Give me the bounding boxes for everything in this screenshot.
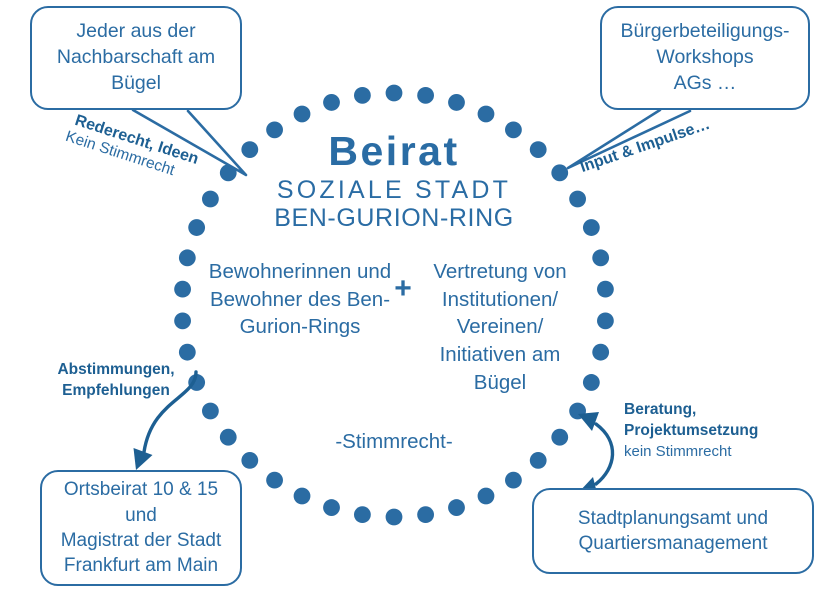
bubble-neighborhood-line-1: Jeder aus der	[57, 19, 215, 45]
bubble-workshops-line-1: Bürgerbeteiligungs-	[620, 19, 789, 45]
ring-dot	[294, 106, 311, 123]
ring-dot	[294, 488, 311, 505]
ring-dot	[417, 506, 434, 523]
ring-dot	[386, 509, 403, 526]
ring-dot	[505, 472, 522, 489]
diagram-canvas: Beirat SOZIALE STADT BEN-GURION-RING Bew…	[0, 0, 820, 600]
ring-dot	[478, 106, 495, 123]
members-residents-column: Bewohnerinnen und Bewohner des Ben-Gurio…	[206, 258, 394, 341]
ring-dot	[202, 403, 219, 420]
ring-dot	[174, 281, 191, 298]
members-institutions-line-5: Initiativen	[440, 343, 527, 366]
bubble-neighborhood-line-3: Bügel	[57, 71, 215, 97]
box-ortsbeirat-line-2: und	[61, 503, 222, 528]
label-beratung-line-2: Projektumsetzung	[624, 421, 802, 442]
ring-dot	[179, 249, 196, 266]
voting-rights-note: -Stimmrecht-	[256, 430, 532, 454]
box-stadtplanung-line-2: Quartiersmanagement	[578, 531, 768, 556]
subtitle-ben-gurion-ring: BEN-GURION-RING	[0, 204, 788, 233]
members-institutions-column: Vertretung von Institutionen/ Vereinen/ …	[416, 258, 584, 396]
ring-dot	[241, 452, 258, 469]
ring-dot	[530, 452, 547, 469]
ring-dot	[583, 374, 600, 391]
ring-dot	[478, 488, 495, 505]
box-ortsbeirat-line-3: Magistrat der Stadt	[61, 528, 222, 553]
label-abstimmungen-line-1: Abstimmungen,	[36, 360, 196, 381]
bubble-workshops: Bürgerbeteiligungs- Workshops AGs …	[600, 6, 810, 110]
ring-dot	[266, 472, 283, 489]
bubble-neighborhood-line-2: Nachbarschaft am	[57, 45, 215, 71]
ring-dot	[592, 249, 609, 266]
label-abstimmungen-line-2: Empfehlungen	[36, 381, 196, 402]
subtitle-soziale-stadt: SOZIALE STADT	[0, 176, 788, 205]
ring-dot	[179, 344, 196, 361]
label-beratung-line-1: Beratung,	[624, 400, 802, 421]
members-residents-line-3: des	[308, 288, 341, 311]
box-stadtplanung-line-1: Stadtplanungsamt und	[578, 506, 768, 531]
box-stadtplanungsamt: Stadtplanungsamt und Quartiersmanagement	[532, 488, 814, 574]
ring-dot	[354, 87, 371, 104]
ring-dot	[354, 506, 371, 523]
arrowhead-beratung-up	[578, 412, 599, 431]
arrow-beratung	[596, 424, 613, 484]
ring-dot	[597, 312, 614, 329]
ring-dot	[323, 499, 340, 516]
label-beratung-line-3: kein Stimmrecht	[624, 442, 802, 462]
ring-dot	[569, 403, 586, 420]
label-abstimmungen-empfehlungen: Abstimmungen, Empfehlungen	[36, 360, 196, 402]
ring-dot	[323, 94, 340, 111]
ring-dot	[417, 87, 434, 104]
bubble-workshops-line-3: AGs …	[620, 71, 789, 97]
ring-dot	[551, 429, 568, 446]
box-ortsbeirat-magistrat: Ortsbeirat 10 & 15 und Magistrat der Sta…	[40, 470, 242, 586]
arrowhead-abstimmungen	[134, 448, 153, 470]
ring-dot	[386, 85, 403, 102]
label-beratung-projektumsetzung: Beratung, Projektumsetzung kein Stimmrec…	[624, 400, 802, 462]
members-residents-line-1: Bewohnerinnen	[209, 260, 351, 283]
box-ortsbeirat-line-4: Frankfurt am Main	[61, 553, 222, 578]
members-institutions-line-1: Vertretung	[433, 260, 528, 283]
bubble-workshops-line-2: Workshops	[620, 45, 789, 71]
members-institutions-line-4: Vereinen/	[457, 315, 544, 338]
ring-dot	[174, 312, 191, 329]
bubble-neighborhood: Jeder aus der Nachbarschaft am Bügel	[30, 6, 242, 110]
members-institutions-line-2: von	[534, 260, 567, 283]
members-institutions-line-3: Institutionen/	[442, 288, 558, 311]
ring-dot	[592, 344, 609, 361]
ring-dot	[448, 499, 465, 516]
box-ortsbeirat-line-1: Ortsbeirat 10 & 15	[61, 477, 222, 502]
ring-dot	[220, 429, 237, 446]
ring-dot	[448, 94, 465, 111]
ring-dot	[597, 281, 614, 298]
